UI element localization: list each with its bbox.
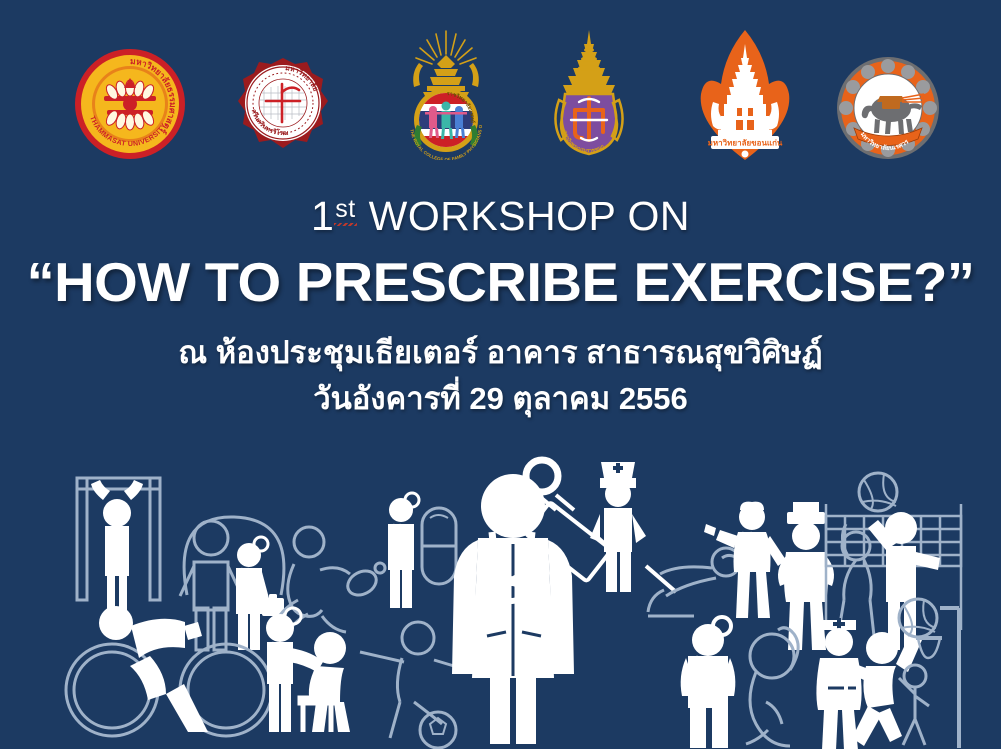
volleyball-icon [859,473,897,511]
khon-kaen-university-logo: มหาวิทยาลัยขอนแก่น [697,28,793,162]
basketball-hoop-icon [916,608,959,748]
central-doctor-figure [452,460,574,744]
headline-rest: WORKSHOP ON [357,193,690,239]
headline-workshop: 1st WORKSHOP ON [0,186,1001,239]
date-text: วันอังคารที่ 29 ตุลาคม 2556 [0,377,1001,421]
venue-text: ณ ห้องประชุมเธียเตอร์ อาคาร สาธารณสุขวิศ… [0,331,1001,375]
doctor-with-medal-figure [681,617,736,748]
doctor-examining-patient-figure [300,632,350,732]
doctor-with-pill-figure [388,493,419,608]
university-logo-row: มหาวิทยาลัยธรรมศาสตร์ THAMMASAT UNIVERSI… [0,0,1001,180]
capsule-pill-icon [422,508,456,584]
ordinal-number: 1 [311,193,334,239]
pictogram-band [0,440,1001,749]
doctor-pointing-figure [704,502,786,618]
srinakharinwirot-university-logo: มหาวิทยาลัย ศรีนครินทรวิโรฒ [233,56,333,158]
royal-college-family-physicians-logo: ราชวิทยาลัยแพทย์ THE ROYAL COLLEGE OF FA… [397,28,495,160]
royal-cypher-emblem-logo: สถาบันพระบรมราชชนก [541,28,637,160]
ordinal-suffix: st [334,195,356,223]
cyclist-figure [66,644,272,736]
tennis-player-figure [274,527,385,634]
page-title: “HOW TO PRESCRIBE EXERCISE?” [0,251,1001,313]
syringe-nurse-figure [590,462,646,592]
pull-up-bar-figure [91,480,143,614]
poster-text-block: 1st WORKSHOP ON “HOW TO PRESCRIBE EXERCI… [0,186,1001,421]
naresuan-university-logo: มหาวิทยาลัยนเรศวร [836,56,940,160]
child-figure [899,665,929,745]
thammasat-university-logo: มหาวิทยาลัยธรรมศาสตร์ THAMMASAT UNIVERSI… [74,48,186,160]
bending-stretch-figure [746,628,798,746]
workshop-poster: มหาวิทยาลัยธรรมศาสตร์ THAMMASAT UNIVERSI… [0,0,1001,749]
svg-text:มหาวิทยาลัยขอนแก่น: มหาวิทยาลัยขอนแก่น [708,139,783,148]
